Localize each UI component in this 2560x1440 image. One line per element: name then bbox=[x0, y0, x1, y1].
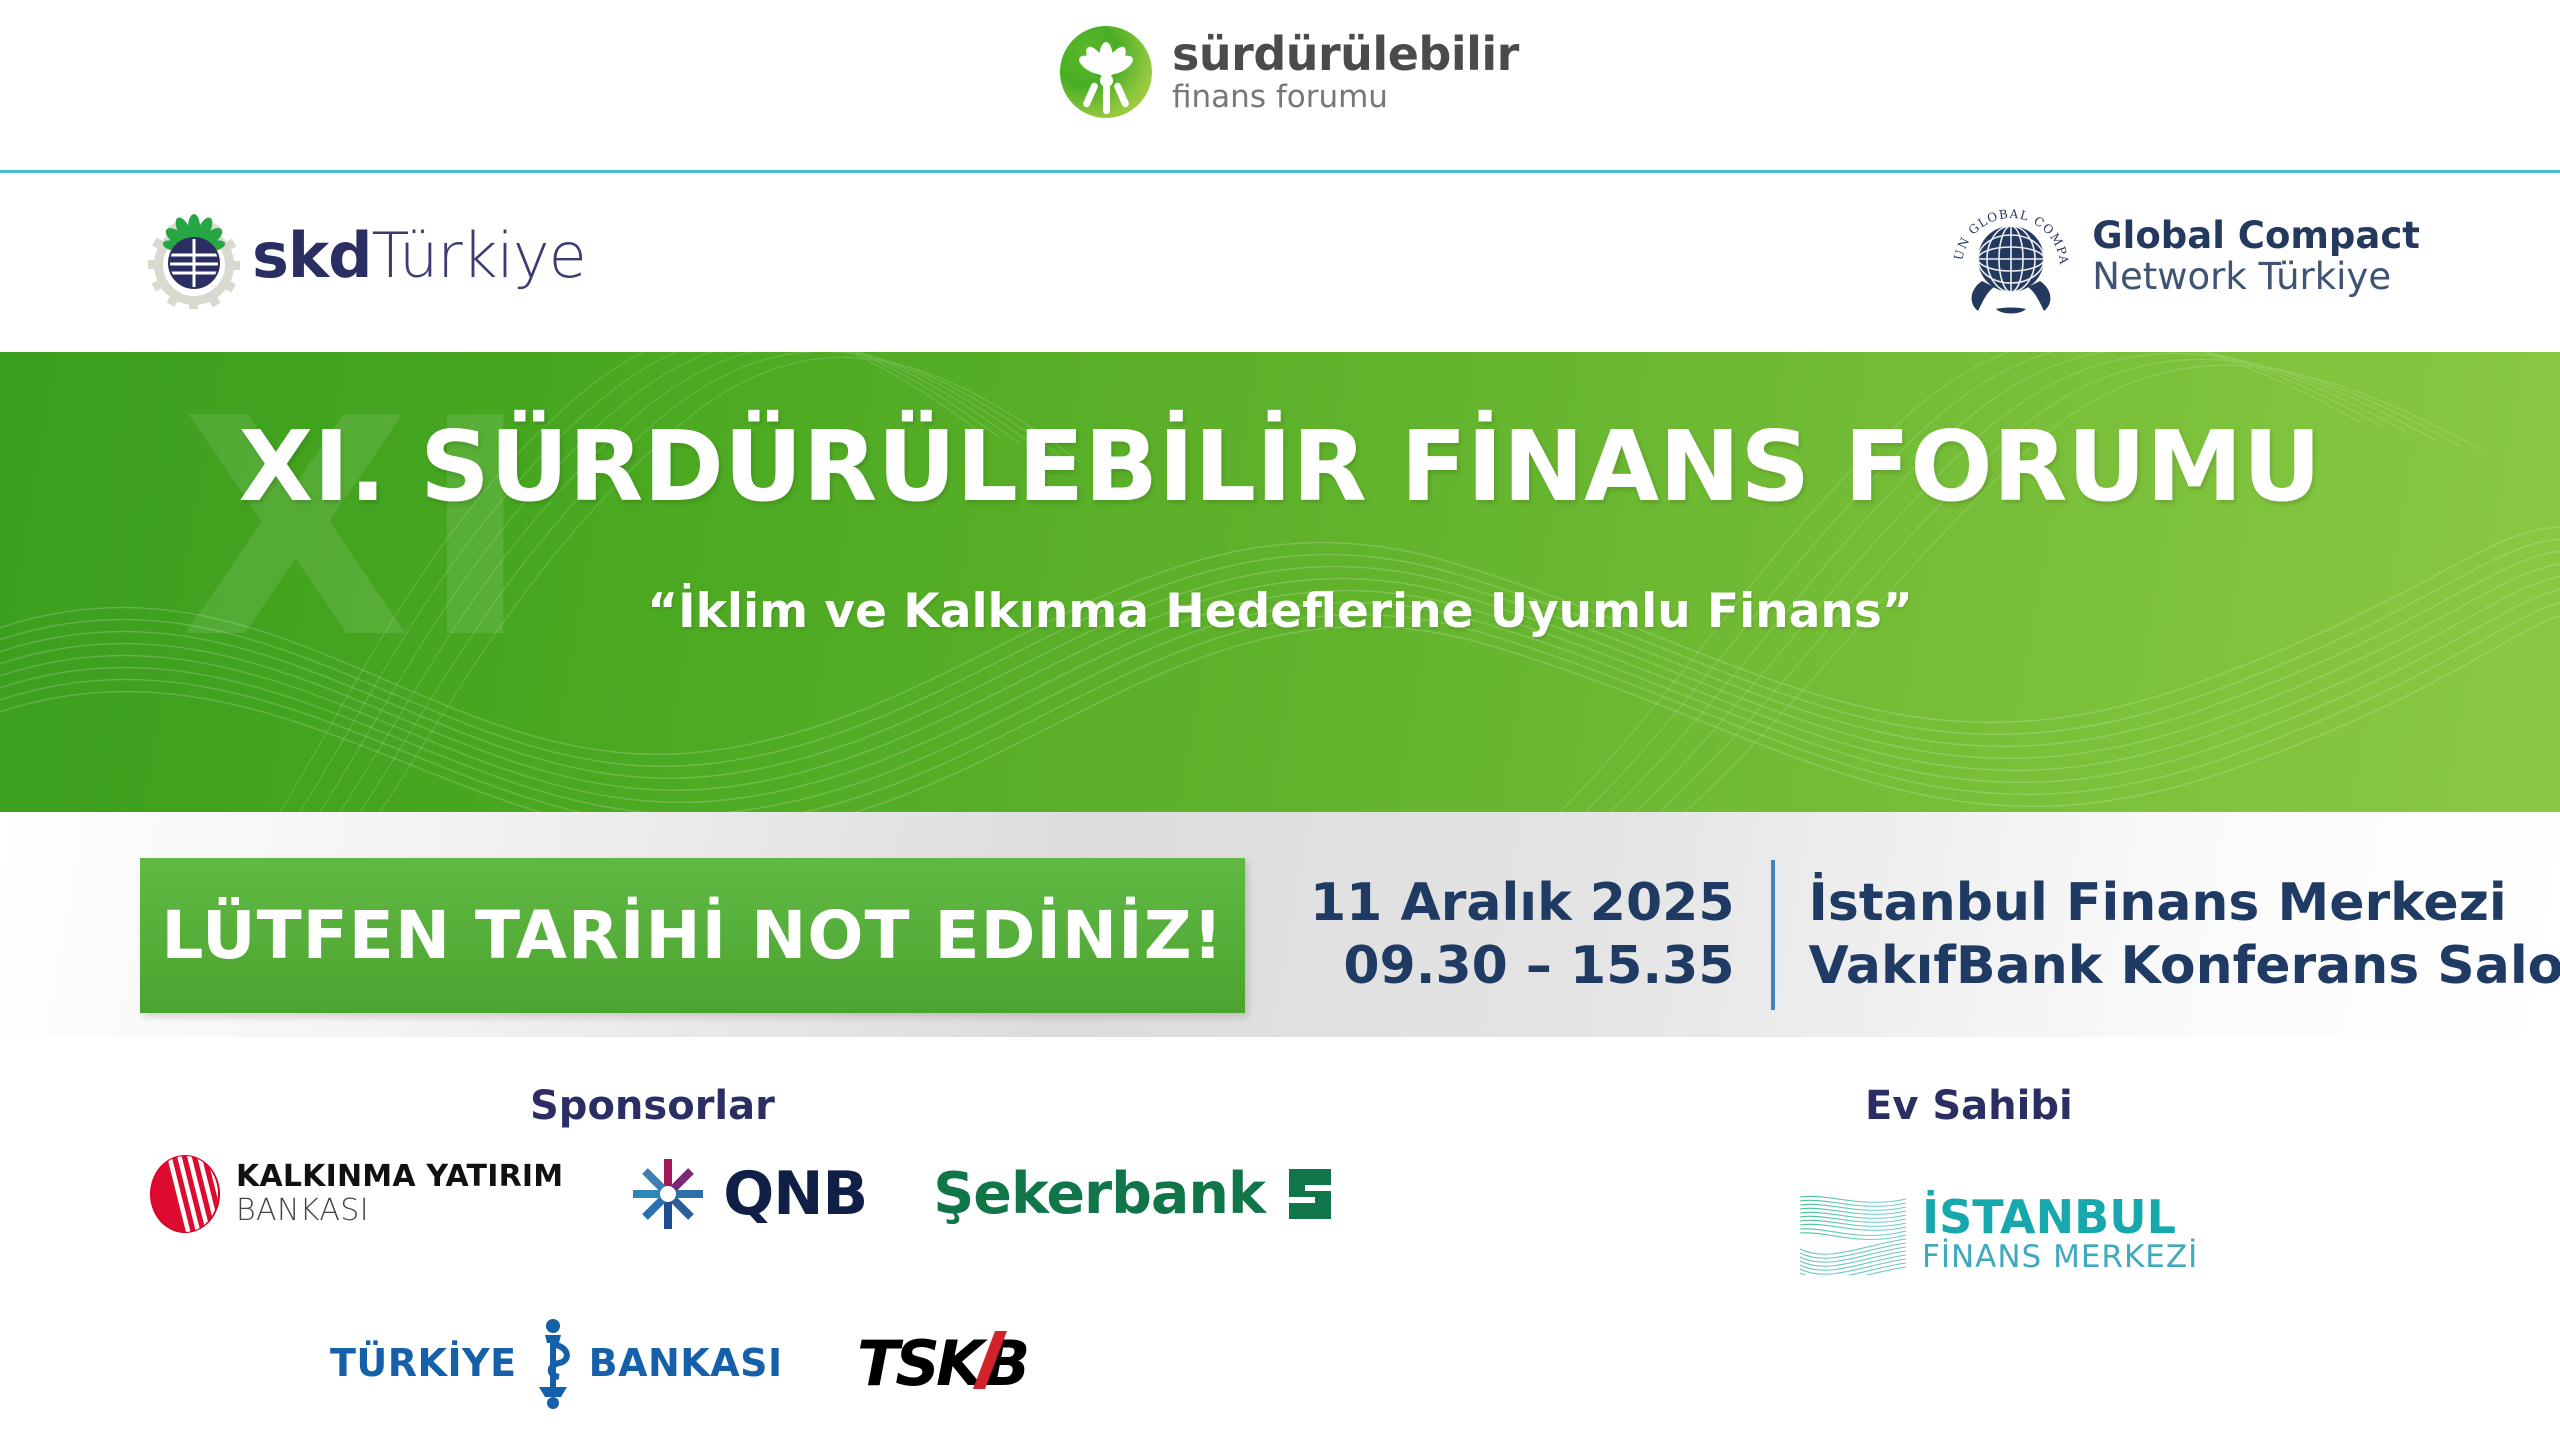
date-venue-strip: LÜTFEN TARİHİ NOT EDİNİZ! 11 Aralık 2025… bbox=[0, 812, 2560, 1037]
date-venue-block: 11 Aralık 2025 09.30 – 15.35 İstanbul Fi… bbox=[1310, 860, 2560, 1010]
skd-logo-text: skd Türkiye bbox=[252, 219, 586, 292]
isbank-anchor-icon bbox=[525, 1317, 581, 1409]
partner-logo-row: skd Türkiye UN GLOBAL COMPACT bbox=[0, 173, 2560, 351]
sponsor-logo-tskb: TSK B bbox=[855, 1323, 1045, 1403]
sustainable-plant-circle-icon bbox=[1060, 26, 1152, 118]
sponsor-logo-row-1: KALKINMA YATIRIM BANKASI bbox=[150, 1155, 1341, 1233]
save-the-date-badge: LÜTFEN TARİHİ NOT EDİNİZ! bbox=[140, 858, 1245, 1013]
date-line-1: 11 Aralık 2025 bbox=[1310, 872, 1735, 935]
ungc-logo-light: Network Türkiye bbox=[2092, 256, 2420, 297]
kalkinma-red-sphere-icon bbox=[150, 1155, 220, 1233]
ifm-wave-square-icon bbox=[1800, 1187, 1906, 1279]
kalkinma-name-light: BANKASI bbox=[236, 1194, 563, 1228]
ifm-name-bold: İSTANBUL bbox=[1922, 1193, 2198, 1241]
top-logo-bar: sürdürülebilir finans forumu bbox=[0, 0, 2560, 171]
date-line-2: 09.30 – 15.35 bbox=[1310, 935, 1735, 998]
event-title: XI. SÜRDÜRÜLEBİLİR FİNANS FORUMU bbox=[0, 410, 2560, 523]
sekerbank-s-icon bbox=[1279, 1163, 1341, 1225]
host-logo-ifm: İSTANBUL FİNANS MERKEZİ bbox=[1800, 1187, 2198, 1279]
isbank-name-left: TÜRKİYE bbox=[330, 1341, 517, 1385]
skd-logo-bold: skd bbox=[252, 219, 372, 292]
ifm-name-light: FİNANS MERKEZİ bbox=[1922, 1241, 2198, 1274]
save-the-date-label: LÜTFEN TARİHİ NOT EDİNİZ! bbox=[161, 897, 1223, 974]
kalkinma-logo-text: KALKINMA YATIRIM BANKASI bbox=[236, 1160, 563, 1227]
venue-block: İstanbul Finans Merkezi VakıfBank Konfer… bbox=[1775, 872, 2560, 999]
ungc-logo-text: Global Compact Network Türkiye bbox=[2092, 215, 2420, 298]
sponsor-logo-kalkinma: KALKINMA YATIRIM BANKASI bbox=[150, 1155, 563, 1233]
sustainable-finance-forum-logo: sürdürülebilir finans forumu bbox=[1060, 26, 1519, 118]
ungc-logo-bold: Global Compact bbox=[2092, 215, 2420, 256]
isbank-name-right: BANKASI bbox=[589, 1341, 783, 1385]
event-banner: XI XI. SÜRDÜRÜLEBİLİR FİNANS FORUMU “İkl… bbox=[0, 352, 2560, 812]
event-subtitle: “İklim ve Kalkınma Hedeflerine Uyumlu Fi… bbox=[0, 584, 2560, 639]
kalkinma-name-bold: KALKINMA YATIRIM bbox=[236, 1160, 563, 1194]
skd-turkiye-logo: skd Türkiye bbox=[140, 201, 586, 309]
qnb-star-icon bbox=[629, 1155, 707, 1233]
venue-line-2: VakıfBank Konferans Salonu bbox=[1809, 935, 2560, 998]
sponsor-logo-row-2: TÜRKİYE BANKASI bbox=[330, 1317, 1045, 1409]
qnb-wordmark: QNB bbox=[723, 1159, 867, 1229]
venue-line-1: İstanbul Finans Merkezi bbox=[1809, 872, 2560, 935]
date-block: 11 Aralık 2025 09.30 – 15.35 bbox=[1310, 872, 1771, 999]
svg-text:TSK: TSK bbox=[857, 1327, 988, 1400]
forum-logo-line2: finans forumu bbox=[1172, 82, 1519, 113]
event-announcement-page: sürdürülebilir finans forumu bbox=[0, 0, 2560, 1440]
forum-logo-text: sürdürülebilir finans forumu bbox=[1172, 31, 1519, 113]
un-globe-laurel-icon: UN GLOBAL COMPACT bbox=[1952, 197, 2070, 315]
sponsor-logo-qnb: QNB bbox=[629, 1155, 867, 1233]
forum-logo-line1: sürdürülebilir bbox=[1172, 31, 1519, 77]
sponsors-host-section: Sponsorlar Ev Sahibi bbox=[0, 1037, 2560, 1440]
ifm-logo-text: İSTANBUL FİNANS MERKEZİ bbox=[1922, 1193, 2198, 1274]
sekerbank-wordmark: Şekerbank bbox=[933, 1161, 1265, 1227]
sponsor-logo-isbankasi: TÜRKİYE BANKASI bbox=[330, 1317, 783, 1409]
sponsors-heading: Sponsorlar bbox=[530, 1083, 775, 1129]
un-global-compact-logo: UN GLOBAL COMPACT bbox=[1952, 197, 2420, 315]
skd-logo-light: Türkiye bbox=[372, 219, 586, 292]
sponsor-logo-sekerbank: Şekerbank bbox=[933, 1161, 1341, 1227]
host-heading: Ev Sahibi bbox=[1865, 1083, 2073, 1129]
skd-gear-globe-leaves-icon bbox=[140, 201, 248, 309]
